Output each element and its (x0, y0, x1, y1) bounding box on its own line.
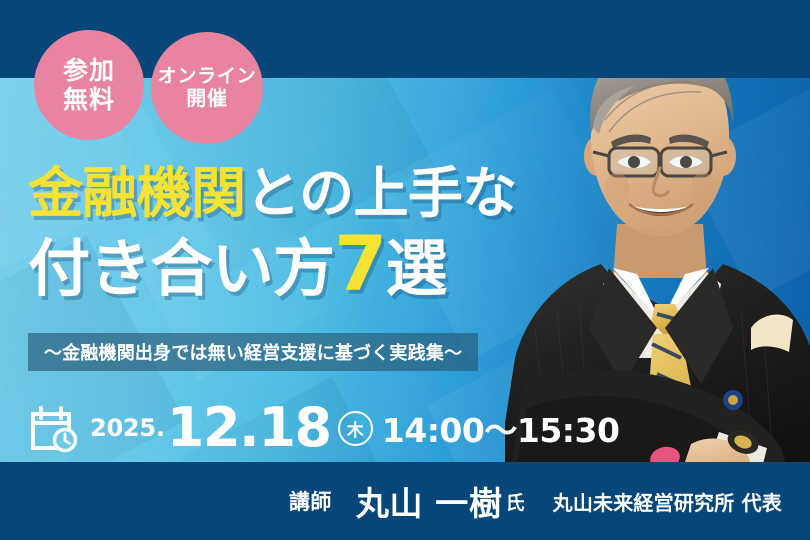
headline: 金融機関との上手な 付き合い方7選 (28, 160, 588, 307)
speaker-organization: 丸山未来経営研究所 代表 (553, 487, 782, 516)
headline-line-1: 金融機関との上手な (28, 160, 588, 226)
date-time-row: 2025. 12.18 木 14:00〜15:30 (28, 397, 619, 459)
headline-number-seven: 7 (334, 219, 385, 308)
speaker-name: 丸山 一樹 (356, 477, 503, 525)
date-year: 2025. (90, 414, 165, 442)
badge-free-line2: 無料 (63, 85, 115, 115)
headline-line1-rest: との上手な (245, 161, 516, 225)
speaker-label: 講師 (289, 486, 332, 516)
headline-line2-end: 選 (386, 232, 447, 305)
subtitle-ribbon: 〜金融機関出身では無い経営支援に基づく実践集〜 (28, 333, 478, 371)
badge-free-line1: 参加 (63, 56, 115, 86)
headline-line-2: 付き合い方7選 (28, 226, 588, 307)
headline-highlight: 金融機関 (28, 161, 245, 225)
speaker-bar: 講師 丸山 一樹 氏 丸山未来経営研究所 代表 (0, 462, 810, 540)
badge-online-line2: 開催 (186, 87, 228, 111)
seminar-banner: 参加 無料 オンライン 開催 金融機関との上手な 付き合い方7選 〜金融機関出身… (0, 0, 810, 540)
headline-line2-start: 付き合い方 (28, 232, 334, 305)
date-time-range: 14:00〜15:30 (382, 404, 620, 452)
badge-free-participation: 参加 無料 (34, 30, 144, 140)
date-weekday-badge: 木 (338, 411, 373, 446)
speaker-name-suffix: 氏 (506, 488, 525, 515)
calendar-clock-icon (28, 402, 80, 454)
badge-online-event: オンライン 開催 (151, 32, 263, 144)
badge-online-line1: オンライン (158, 65, 257, 87)
date-monthday: 12.18 (167, 401, 331, 455)
